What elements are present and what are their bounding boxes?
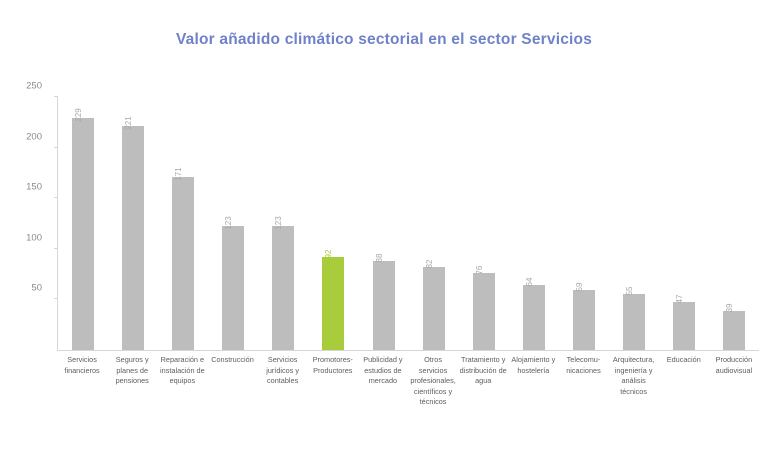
x-axis-category-label: Servicios jurídicos y contables — [258, 355, 308, 387]
bar[interactable]: 123 — [272, 226, 294, 350]
x-axis-category-label: Telecomu-nicaciones — [558, 355, 608, 376]
bar-slot: 39 — [709, 97, 759, 350]
bar-slot: 64 — [509, 97, 559, 350]
bar[interactable]: 229 — [72, 118, 94, 350]
bar[interactable]: 39 — [723, 311, 745, 350]
bar-slot: 123 — [208, 97, 258, 350]
bar[interactable]: 64 — [523, 285, 545, 350]
bar[interactable]: 76 — [473, 273, 495, 350]
bar-highlighted[interactable]: 92 — [322, 257, 344, 350]
bar-value-label: 39 — [725, 303, 734, 312]
x-axis-category-label: Seguros y planes de pensiones — [107, 355, 157, 387]
bar-value-label: 123 — [224, 216, 233, 229]
y-axis-tick-label: 150 — [2, 182, 42, 193]
x-axis-category-label: Arquitectura, ingeniería y análisis técn… — [609, 355, 659, 397]
bar-value-label: 47 — [675, 295, 684, 304]
bar-value-label: 221 — [124, 117, 133, 130]
bar-value-label: 171 — [174, 167, 183, 180]
bar-slot: 76 — [459, 97, 509, 350]
bar-value-label: 123 — [274, 216, 283, 229]
y-axis-tick-label: 50 — [2, 283, 42, 294]
bar-slot: 47 — [659, 97, 709, 350]
bar-value-label: 55 — [625, 287, 634, 296]
bar-value-label: 64 — [525, 278, 534, 287]
bar-value-label: 229 — [74, 109, 83, 122]
bar-value-label: 59 — [575, 283, 584, 292]
x-axis-category-label: Otros servicios profesionales, científic… — [408, 355, 458, 408]
bar-slot: 171 — [158, 97, 208, 350]
bar-slot: 229 — [58, 97, 108, 350]
chart-title: Valor añadido climático sectorial en el … — [0, 31, 768, 49]
x-axis-category-label: Educación — [659, 355, 709, 366]
bar[interactable]: 59 — [573, 290, 595, 350]
x-axis-category-label: Construcción — [207, 355, 257, 366]
bar-slot: 82 — [409, 97, 459, 350]
x-axis-category-label: Publicidad y estudios de mercado — [358, 355, 408, 387]
bar-slot: 123 — [258, 97, 308, 350]
plot-area: 25020015010050 2292211711231239288827664… — [57, 97, 759, 351]
bar[interactable]: 82 — [423, 267, 445, 350]
x-axis-category-label: Reparación e instalación de equipos — [157, 355, 207, 387]
x-axis-category-label: Producción audiovisual — [709, 355, 759, 376]
bar-value-label: 92 — [324, 249, 333, 258]
x-axis-category-label: Promotores-Productores — [308, 355, 358, 376]
y-axis-tick-label: 250 — [2, 81, 42, 92]
bar[interactable]: 123 — [222, 226, 244, 350]
bar-slot: 59 — [559, 97, 609, 350]
bar-value-label: 88 — [375, 254, 384, 263]
bar[interactable]: 55 — [623, 294, 645, 350]
bar-series: 229221171123123928882766459554739 — [58, 97, 759, 350]
y-axis-tick-label: 100 — [2, 232, 42, 243]
bar-slot: 92 — [308, 97, 358, 350]
x-axis-category-label: Servicios financieros — [57, 355, 107, 376]
x-axis-category-label: Tratamiento y distribución de agua — [458, 355, 508, 387]
x-axis-category-label: Alojamiento y hostelería — [508, 355, 558, 376]
bar[interactable]: 171 — [172, 177, 194, 350]
bar-slot: 55 — [609, 97, 659, 350]
chart-container: Valor añadido climático sectorial en el … — [0, 0, 768, 457]
bar[interactable]: 221 — [122, 126, 144, 350]
bar[interactable]: 88 — [373, 261, 395, 350]
bar-slot: 88 — [358, 97, 408, 350]
x-axis-category-labels: Servicios financierosSeguros y planes de… — [57, 355, 759, 408]
bar-value-label: 82 — [425, 260, 434, 269]
bar-value-label: 76 — [475, 266, 484, 275]
y-axis-tick-label: 200 — [2, 131, 42, 142]
bar[interactable]: 47 — [673, 302, 695, 350]
bar-slot: 221 — [108, 97, 158, 350]
